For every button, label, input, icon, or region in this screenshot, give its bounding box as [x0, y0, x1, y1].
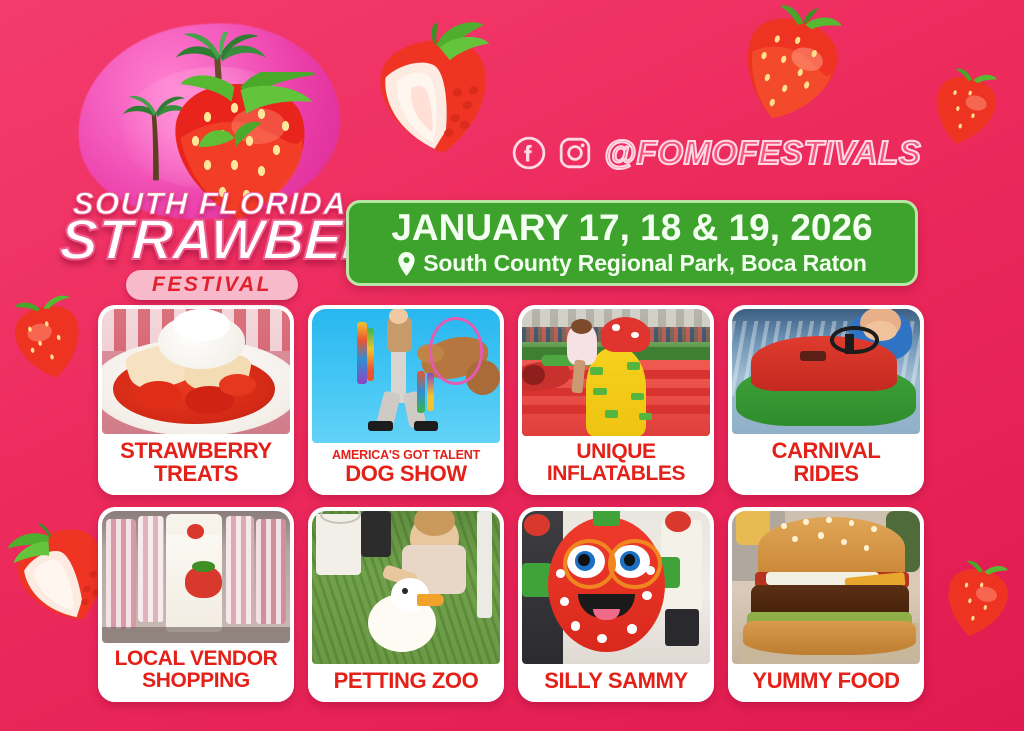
strawberry-mascot-photo: [522, 511, 710, 664]
festival-poster: SOUTH FLORIDA STRAWBERRY FESTIVAL @FOMOF…: [0, 0, 1024, 731]
card-title: DOG SHOW: [312, 462, 500, 486]
facebook-icon[interactable]: [512, 136, 546, 170]
card-title-2: TREATS: [102, 462, 290, 486]
card-title: LOCAL VENDOR: [102, 648, 290, 671]
petting-zoo-duck-photo: [312, 511, 500, 664]
vendor-clothing-rack-photo: [102, 511, 290, 643]
feature-card-petting-zoo[interactable]: PETTING ZOO: [308, 507, 504, 702]
card-caption: PETTING ZOO: [308, 664, 504, 702]
card-title: PETTING ZOO: [312, 669, 500, 693]
card-caption: AMERICA'S GOT TALENT DOG SHOW: [308, 443, 504, 495]
festival-logo: SOUTH FLORIDA STRAWBERRY FESTIVAL: [60, 14, 360, 304]
feature-card-dog-show[interactable]: AMERICA'S GOT TALENT DOG SHOW: [308, 305, 504, 495]
card-caption: UNIQUE INFLATABLES: [518, 436, 714, 495]
strawberry-whole-right-lower: [928, 548, 1024, 649]
logo-line-2: STRAWBERRY: [59, 212, 366, 269]
card-title-2: SHOPPING: [102, 670, 290, 693]
card-title: UNIQUE: [522, 441, 710, 464]
date-location-banner: JANUARY 17, 18 & 19, 2026 South County R…: [346, 200, 918, 286]
instagram-icon[interactable]: [558, 136, 592, 170]
location-pin-icon: [397, 252, 416, 276]
feature-card-strawberry-treats[interactable]: STRAWBERRY TREATS: [98, 305, 294, 495]
card-title-2: RIDES: [732, 462, 920, 486]
strawberry-shortcake-photo: [102, 309, 290, 434]
feature-card-unique-inflatables[interactable]: UNIQUE INFLATABLES: [518, 305, 714, 495]
feature-card-silly-sammy[interactable]: SILLY SAMMY: [518, 507, 714, 702]
feature-card-yummy-food[interactable]: YUMMY FOOD: [728, 507, 924, 702]
logo-festival-badge: FESTIVAL: [126, 270, 298, 300]
inflatable-playground-photo: [522, 309, 710, 436]
social-handle-text[interactable]: @FOMOFESTIVALS: [604, 134, 921, 172]
card-caption: SILLY SAMMY: [518, 664, 714, 702]
festival-location-text: South County Regional Park, Boca Raton: [423, 250, 867, 277]
dog-show-performer-photo: [312, 309, 500, 443]
festival-location-row: South County Regional Park, Boca Raton: [397, 250, 867, 277]
card-title: SILLY SAMMY: [522, 669, 710, 693]
feature-card-carnival-rides[interactable]: CARNIVAL RIDES: [728, 305, 924, 495]
card-title: CARNIVAL: [732, 439, 920, 463]
strawberry-whole-top-right-large: [712, 0, 868, 142]
card-title: YUMMY FOOD: [732, 669, 920, 693]
card-caption: LOCAL VENDOR SHOPPING: [98, 643, 294, 702]
bumper-boat-ride-photo: [732, 309, 920, 434]
logo-festival-label: FESTIVAL: [152, 273, 272, 297]
strawberry-half-top-center: [351, 14, 519, 172]
card-caption: YUMMY FOOD: [728, 664, 924, 702]
social-handle[interactable]: @FOMOFESTIVALS: [512, 134, 921, 172]
card-title-2: INFLATABLES: [522, 463, 710, 486]
card-title: STRAWBERRY: [102, 439, 290, 463]
feature-card-grid: STRAWBERRY TREATS: [98, 305, 926, 702]
card-caption: CARNIVAL RIDES: [728, 434, 924, 496]
strawberry-whole-top-right-small: [915, 57, 1014, 156]
festival-dates: JANUARY 17, 18 & 19, 2026: [391, 209, 872, 248]
burger-photo: [732, 511, 920, 664]
card-caption: STRAWBERRY TREATS: [98, 434, 294, 496]
feature-card-local-vendor-shopping[interactable]: LOCAL VENDOR SHOPPING: [98, 507, 294, 702]
card-subtitle: AMERICA'S GOT TALENT: [312, 448, 500, 462]
